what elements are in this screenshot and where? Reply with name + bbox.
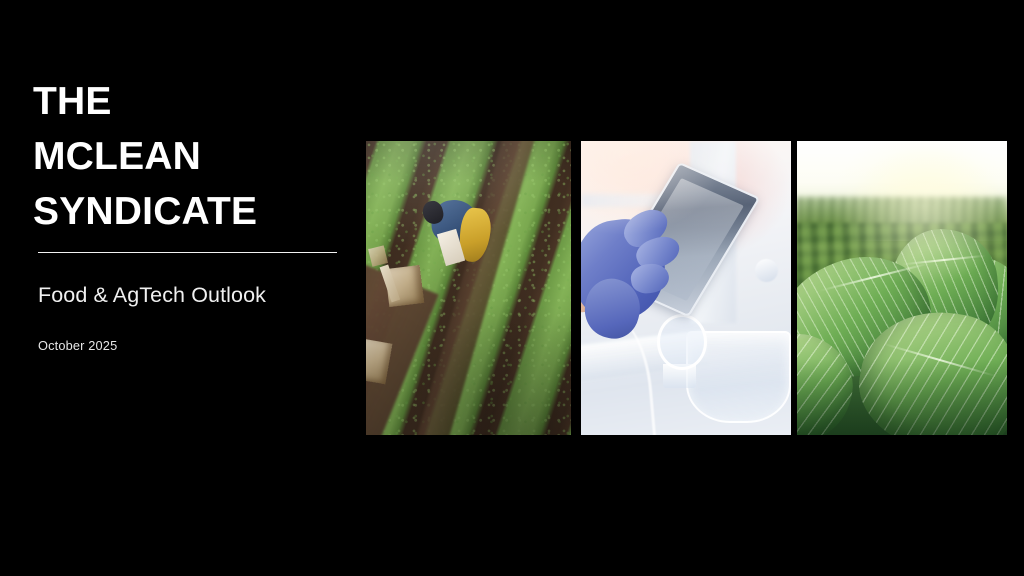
title-divider — [38, 252, 337, 253]
subtitle: Food & AgTech Outlook — [38, 283, 266, 308]
date-label: October 2025 — [38, 338, 117, 353]
title-line-2: MCLEAN — [33, 129, 343, 184]
image-cabbage-field — [797, 141, 1007, 435]
lab-photo-inner — [581, 141, 791, 435]
field-photo-inner — [366, 141, 571, 435]
image-field-workers — [366, 141, 571, 435]
title-line-3: SYNDICATE — [33, 184, 343, 239]
field-shading — [366, 141, 571, 435]
title-slide: THE MCLEAN SYNDICATE Food & AgTech Outlo… — [0, 0, 1024, 576]
title-line-1: THE — [33, 74, 343, 129]
lab-light-haze — [581, 141, 791, 435]
page-title: THE MCLEAN SYNDICATE — [33, 74, 343, 239]
bottom-shadow — [797, 359, 1007, 435]
cabbage-photo-inner — [797, 141, 1007, 435]
image-lab-tablet — [581, 141, 791, 435]
